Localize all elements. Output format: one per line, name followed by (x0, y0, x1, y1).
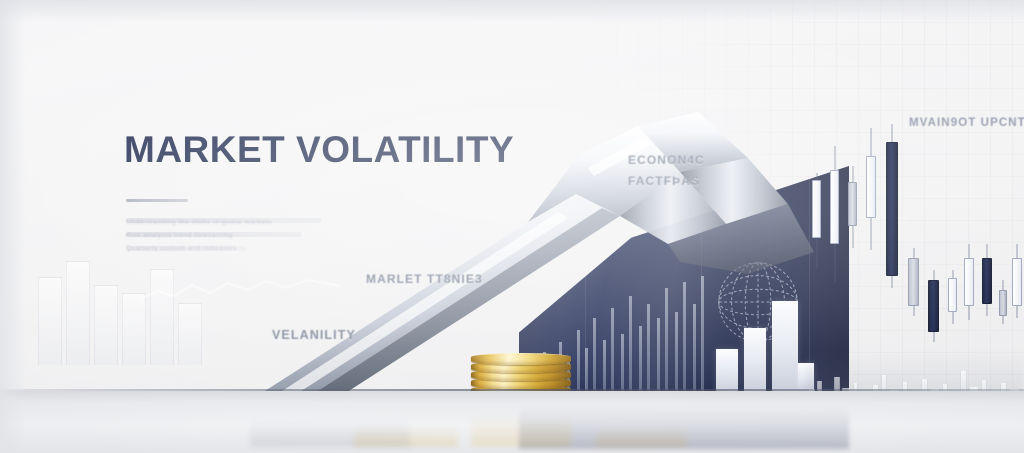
coin-reflection (471, 407, 571, 447)
label-market-trends: MARLET TT8NIE3 (366, 272, 483, 286)
banner-stage: MARKET VOLATILITY Understanding the shif… (0, 0, 1024, 453)
coin-reflection (354, 421, 458, 447)
ghost-bar (94, 285, 118, 365)
floor-horizon-line (0, 389, 1024, 391)
page-title: MARKET VOLATILITY (124, 131, 514, 168)
ghost-bar (178, 303, 202, 365)
ghost-bar (38, 277, 62, 365)
market-update-candlestick-chart (812, 118, 1024, 368)
top-edge-fade (0, 0, 1024, 22)
subtitle-blurred-text: Understanding the shifts in global marke… (126, 216, 356, 255)
left-edge-fade (0, 0, 26, 453)
label-volatility: VELANILITY (272, 328, 356, 342)
coin-reflection (595, 423, 687, 447)
page-title-text: MARKET VOLATILITY (124, 131, 514, 168)
label-economic-factors: ECONON4C FACTFÞAS (628, 150, 705, 192)
title-divider (126, 199, 188, 202)
ghost-bar (66, 261, 90, 365)
label-market-update: MVAIN9OT UPCNTTA (909, 117, 1024, 129)
